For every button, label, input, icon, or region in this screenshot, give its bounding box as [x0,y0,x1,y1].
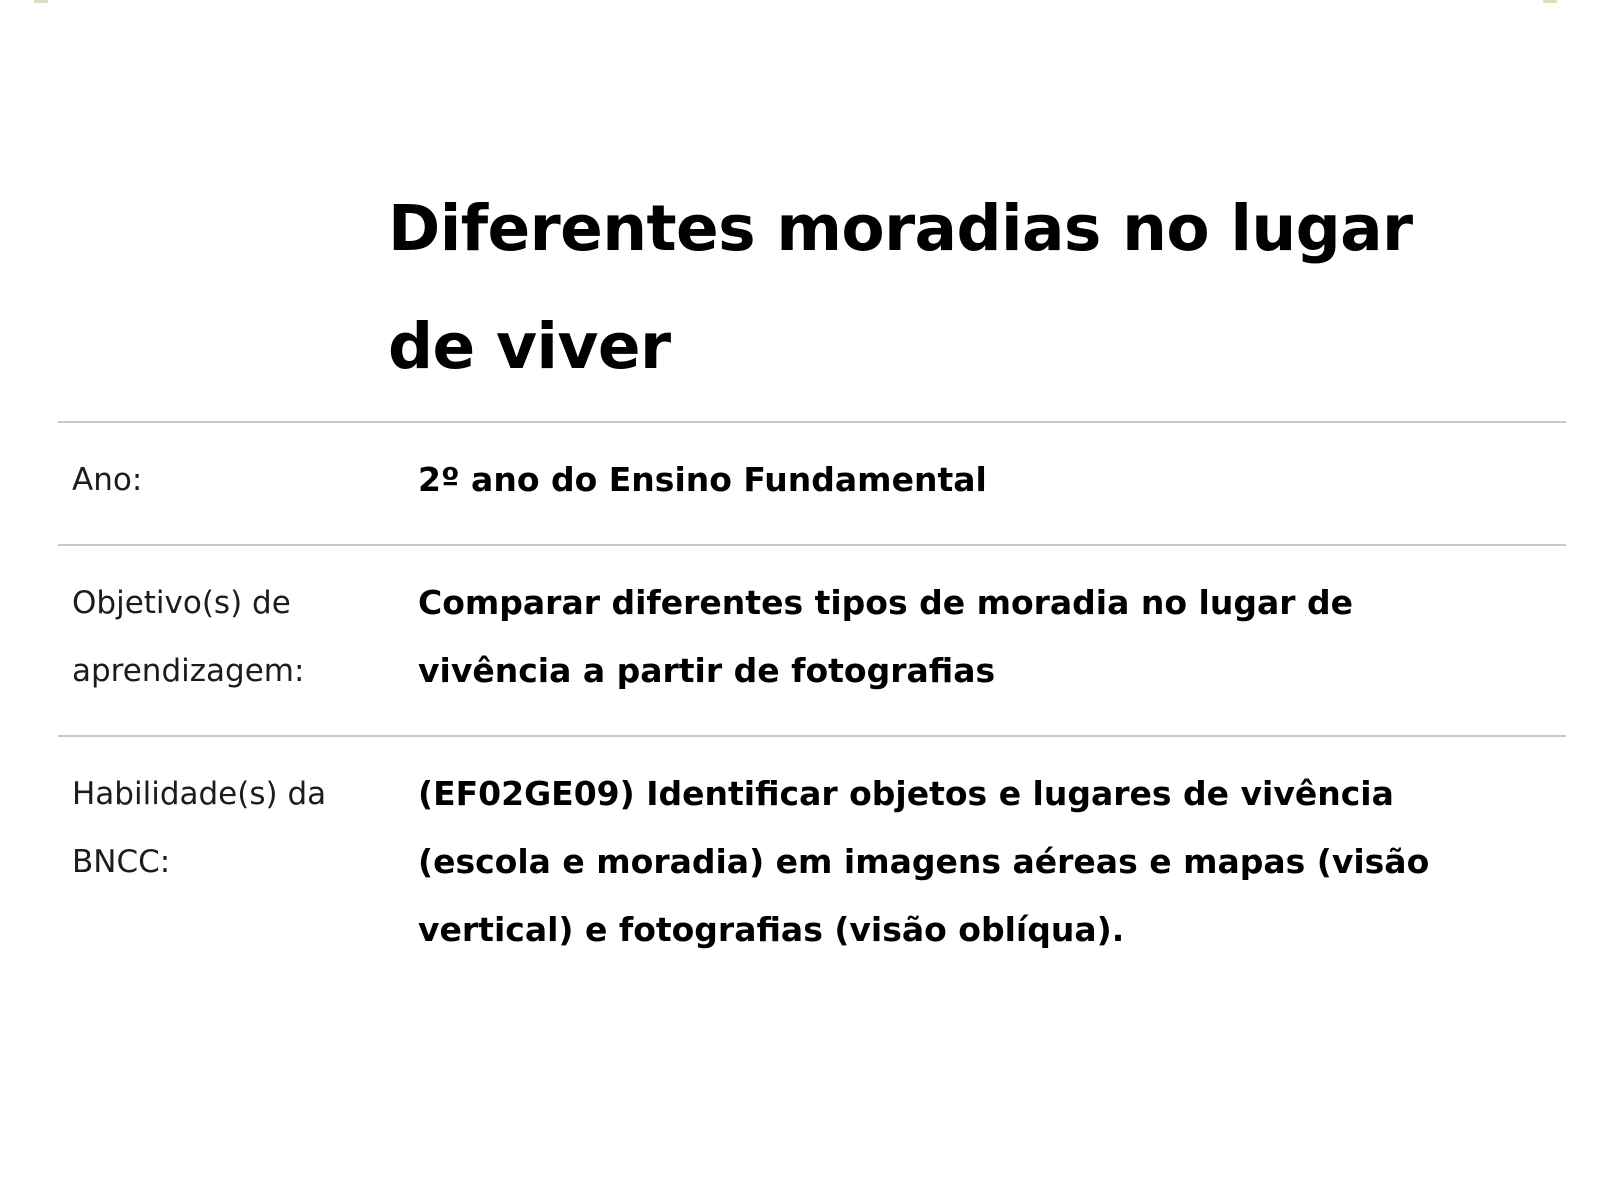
info-value-objetivos: Comparar diferentes tipos de moradia no … [418,545,1566,736]
crop-mark-left-icon [34,0,48,3]
info-label-ano: Ano: [58,422,418,545]
info-label-objetivos: Objetivo(s) de aprendizagem: [58,545,418,736]
lesson-plan-page: Diferentes moradias no lugar de viver An… [0,0,1600,1200]
info-label-habilidades-bncc: Habilidade(s) da BNCC: [58,736,418,994]
crop-mark-right-icon [1543,0,1557,3]
page-title: Diferentes moradias no lugar de viver [388,170,1498,406]
info-value-habilidades-bncc: (EF02GE09) Identificar objetos e lugares… [418,736,1566,994]
lesson-info-table: Ano: 2º ano do Ensino Fundamental Objeti… [58,421,1566,994]
info-value-ano: 2º ano do Ensino Fundamental [418,422,1566,545]
table-row: Habilidade(s) da BNCC: (EF02GE09) Identi… [58,736,1566,994]
table-row: Ano: 2º ano do Ensino Fundamental [58,422,1566,545]
table-row: Objetivo(s) de aprendizagem: Comparar di… [58,545,1566,736]
